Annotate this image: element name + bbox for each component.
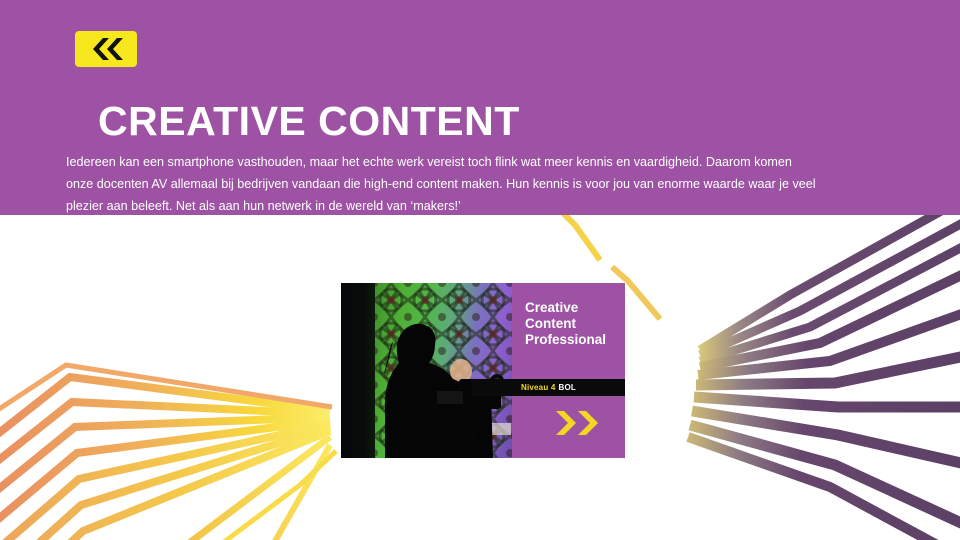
course-card-title: Creative Content Professional (525, 300, 623, 348)
logo-badge[interactable] (75, 31, 137, 67)
level-badge: Niveau 4 BOL (472, 379, 625, 396)
level-badge-type: BOL (559, 383, 577, 392)
double-chevron-right-icon (554, 411, 604, 435)
level-badge-niveau: Niveau 4 (521, 383, 556, 392)
course-title-line-2: Content (525, 316, 623, 332)
course-card-photo (341, 283, 512, 458)
course-card[interactable]: Creative Content Professional Niveau 4 B… (341, 283, 625, 458)
slide-root: CREATIVE CONTENT Iedereen kan een smartp… (0, 0, 960, 540)
double-chevron-left-icon (86, 38, 126, 60)
intro-paragraph: Iedereen kan een smartphone vasthouden, … (66, 151, 818, 217)
course-title-line-3: Professional (525, 332, 623, 348)
right-ray-group (688, 215, 960, 540)
page-title: CREATIVE CONTENT (98, 101, 520, 142)
course-title-line-1: Creative (525, 300, 623, 316)
camera-operator-silhouette-icon (341, 283, 512, 458)
course-card-panel: Creative Content Professional Niveau 4 B… (512, 283, 625, 458)
left-ray-group (0, 377, 330, 540)
